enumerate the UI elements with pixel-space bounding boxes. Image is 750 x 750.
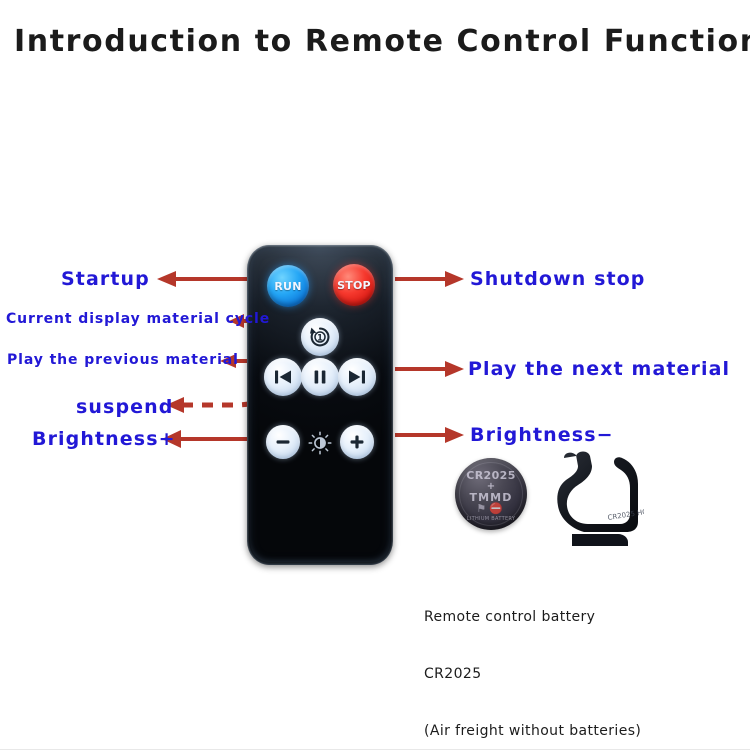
stop-button[interactable]: STOP [333, 264, 375, 306]
label-suspend: suspend [76, 396, 173, 418]
label-play-next: Play the next material [468, 358, 730, 380]
previous-button[interactable] [264, 358, 302, 396]
brightness-icon [308, 431, 332, 455]
label-shutdown-stop: Shutdown stop [470, 268, 646, 290]
skip-next-icon [347, 368, 367, 386]
skip-previous-icon [273, 368, 293, 386]
remote-control-body: RUN STOP 1 [247, 245, 393, 565]
label-brightness-minus: Brightness− [470, 424, 614, 446]
repeat-one-icon: 1 [307, 324, 333, 350]
label-startup: Startup [61, 268, 150, 290]
next-button[interactable] [338, 358, 376, 396]
label-brightness-plus: Brightness+ [32, 428, 176, 450]
page-title: Introduction to Remote Control Functions [14, 24, 750, 59]
label-current-display-cycle: Current display material cycle [6, 311, 270, 327]
caption-line-2: CR2025 [424, 665, 641, 684]
arrow-brightness-minus [394, 424, 466, 446]
cycle-button[interactable]: 1 [301, 318, 339, 356]
pause-button[interactable] [301, 358, 339, 396]
page-root: Introduction to Remote Control Functions [0, 0, 750, 750]
minus-icon [274, 433, 292, 451]
run-button-label: RUN [274, 280, 301, 293]
label-play-previous: Play the previous material [7, 352, 239, 368]
battery-caption: Remote control battery CR2025 (Air freig… [424, 570, 641, 750]
battery-holder-clip: CR2025 HOLDER [548, 450, 644, 550]
arrow-shutdown [394, 268, 466, 290]
caption-line-3: (Air freight without batteries) [424, 722, 641, 741]
battery-fine-print: LITHIUM BATTERY [455, 516, 527, 522]
battery-symbols: ⚑⛔ [455, 502, 527, 515]
pause-icon [311, 368, 329, 386]
arrow-startup [155, 268, 250, 290]
brightness-decrease-button[interactable] [266, 425, 300, 459]
arrow-next [394, 358, 466, 380]
battery-image: CR2025 + TMMD ⚑⛔ LITHIUM BATTERY [455, 458, 527, 530]
brightness-increase-button[interactable] [340, 425, 374, 459]
stop-button-label: STOP [337, 279, 371, 292]
caption-line-1: Remote control battery [424, 608, 641, 627]
run-button[interactable]: RUN [267, 265, 309, 307]
plus-icon [348, 433, 366, 451]
svg-text:CR2025 HOLDER: CR2025 HOLDER [607, 505, 644, 522]
svg-text:1: 1 [317, 334, 323, 344]
